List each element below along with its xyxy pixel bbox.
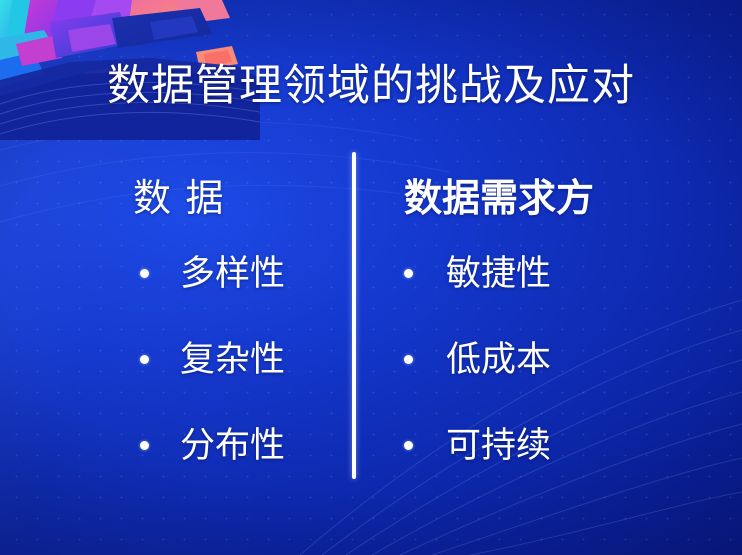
bullet-dot-icon xyxy=(140,441,149,450)
bullet-list: 敏捷性 低成本 可持续 xyxy=(392,242,642,476)
list-item[interactable]: 复杂性 xyxy=(120,328,350,390)
column-data: 数 据 多样性 复杂性 分布性 xyxy=(120,180,350,476)
bullet-dot-icon xyxy=(404,355,413,364)
list-item[interactable]: 敏捷性 xyxy=(392,242,642,304)
list-item[interactable]: 多样性 xyxy=(120,242,350,304)
list-item-label: 低成本 xyxy=(446,342,551,377)
list-item[interactable]: 分布性 xyxy=(120,414,350,476)
content-columns: 数 据 多样性 复杂性 分布性 数据需求方 xyxy=(0,180,742,490)
bullet-list: 多样性 复杂性 分布性 xyxy=(120,242,350,476)
bullet-dot-icon xyxy=(140,269,149,278)
list-item-label: 敏捷性 xyxy=(446,256,551,291)
list-item-label: 多样性 xyxy=(180,256,285,291)
list-item[interactable]: 低成本 xyxy=(392,328,642,390)
column-heading: 数 据 xyxy=(120,180,350,218)
slide-title: 数据管理领域的挑战及应对 xyxy=(0,64,742,110)
column-heading: 数据需求方 xyxy=(392,180,642,218)
list-item[interactable]: 可持续 xyxy=(392,414,642,476)
list-item-label: 分布性 xyxy=(180,428,285,463)
list-item-label: 复杂性 xyxy=(180,342,285,377)
column-divider xyxy=(352,152,356,479)
bullet-dot-icon xyxy=(404,269,413,278)
list-item-label: 可持续 xyxy=(446,428,551,463)
presentation-slide: 数据管理领域的挑战及应对 数 据 多样性 复杂性 分布性 xyxy=(0,0,742,555)
column-data-consumer: 数据需求方 敏捷性 低成本 可持续 xyxy=(392,180,642,476)
bullet-dot-icon xyxy=(404,441,413,450)
bullet-dot-icon xyxy=(140,355,149,364)
